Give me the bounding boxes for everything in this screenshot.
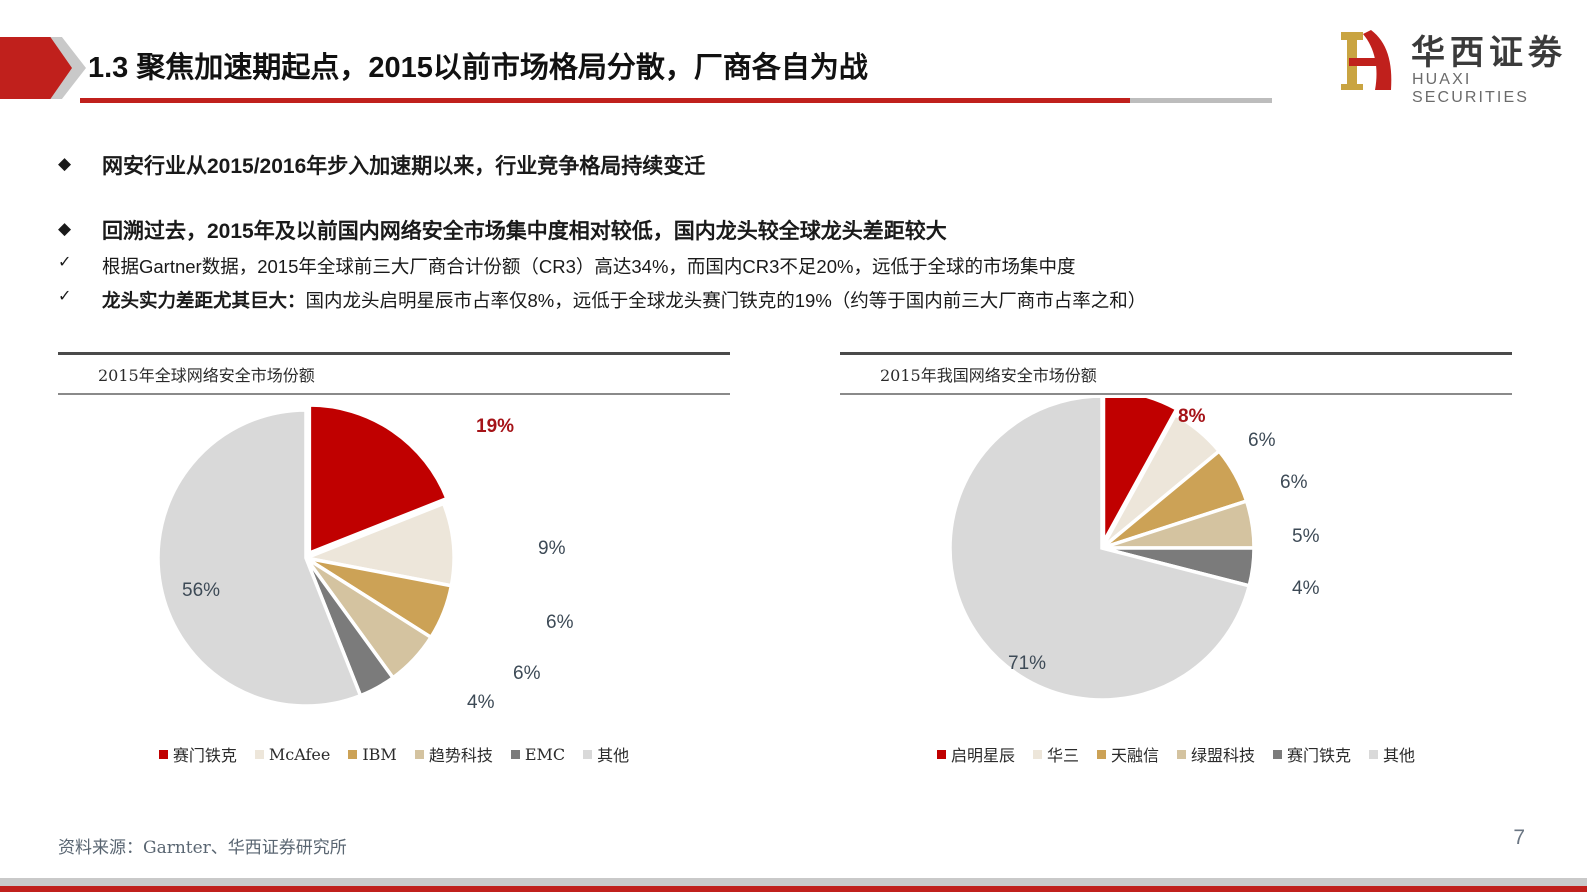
source-note: 资料来源：Garnter、华西证券研究所 bbox=[58, 833, 347, 858]
pie-label-china-4: 4% bbox=[1292, 578, 1319, 600]
header-rule-red bbox=[80, 98, 1130, 103]
diamond-bullet-icon: ◆ bbox=[58, 220, 71, 237]
huaxi-logo-mark-icon bbox=[1335, 28, 1401, 92]
legend-label: 其他 bbox=[597, 742, 629, 766]
legend-swatch-icon bbox=[1097, 750, 1106, 759]
legend-global: 赛门铁克McAfeeIBM趋势科技EMC其他 bbox=[58, 740, 730, 768]
bullet-item-1: ◆ 网安行业从2015/2016年步入加速期以来，行业竞争格局持续变迁 bbox=[58, 150, 705, 180]
legend-swatch-icon bbox=[511, 750, 520, 759]
pie-label-global-1: 9% bbox=[538, 538, 565, 560]
pie-label-china-2: 6% bbox=[1280, 472, 1307, 494]
pie-label-global-2: 6% bbox=[546, 612, 573, 634]
pie-chart-china-svg bbox=[840, 398, 1512, 728]
page-number: 7 bbox=[1513, 826, 1525, 850]
bullet-item-2: ◆ 回溯过去，2015年及以前国内网络安全市场集中度相对较低，国内龙头较全球龙头… bbox=[58, 215, 947, 245]
legend-swatch-icon bbox=[937, 750, 946, 759]
chart-panel-china-header: 2015年我国网络安全市场份额 bbox=[840, 352, 1512, 395]
legend-swatch-icon bbox=[1033, 750, 1042, 759]
legend-china: 启明星辰华三天融信绿盟科技赛门铁克其他 bbox=[840, 740, 1512, 768]
bullet-item-4-text: 国内龙头启明星辰市占率仅8%，远低于全球龙头赛门铁克的19%（约等于国内前三大厂… bbox=[306, 290, 1147, 311]
legend-item[interactable]: 天融信 bbox=[1097, 742, 1159, 766]
pie-chart-global: 19% 9% 6% 6% 4% 56% bbox=[58, 398, 730, 728]
pie-label-china-5: 71% bbox=[1008, 653, 1046, 675]
legend-item[interactable]: McAfee bbox=[255, 745, 330, 764]
chart-panel-global-header: 2015年全球网络安全市场份额 bbox=[58, 352, 730, 395]
legend-swatch-icon bbox=[583, 750, 592, 759]
legend-label: 华三 bbox=[1047, 742, 1079, 766]
bullet-item-2-text: 回溯过去，2015年及以前国内网络安全市场集中度相对较低，国内龙头较全球龙头差距… bbox=[102, 215, 947, 245]
legend-swatch-icon bbox=[1273, 750, 1282, 759]
legend-label: 赛门铁克 bbox=[173, 742, 237, 766]
pie-label-china-0: 8% bbox=[1178, 406, 1205, 428]
legend-label: 赛门铁克 bbox=[1287, 742, 1351, 766]
bullet-item-4-strong: 龙头实力差距尤其巨大： bbox=[102, 290, 306, 311]
legend-swatch-icon bbox=[255, 750, 264, 759]
legend-item[interactable]: EMC bbox=[511, 745, 565, 764]
slide: 1.3 聚焦加速期起点，2015以前市场格局分散，厂商各自为战 华西证劵 HUA… bbox=[0, 0, 1587, 892]
pie-label-global-3: 6% bbox=[513, 663, 540, 685]
legend-item[interactable]: 赛门铁克 bbox=[1273, 742, 1351, 766]
legend-swatch-icon bbox=[1177, 750, 1186, 759]
check-bullet-icon: ✓ bbox=[58, 289, 71, 305]
legend-swatch-icon bbox=[1369, 750, 1378, 759]
bullet-item-3: ✓ 根据Gartner数据，2015年全球前三大厂商合计份额（CR3）高达34%… bbox=[58, 253, 1075, 279]
bullet-item-4: ✓ 龙头实力差距尤其巨大：国内龙头启明星辰市占率仅8%，远低于全球龙头赛门铁克的… bbox=[58, 287, 1146, 313]
footer-bar-red bbox=[0, 886, 1587, 892]
pie-chart-global-svg bbox=[58, 398, 730, 728]
pie-label-global-5: 56% bbox=[182, 580, 220, 602]
pie-label-global-4: 4% bbox=[467, 692, 494, 714]
legend-label: 其他 bbox=[1383, 742, 1415, 766]
chart-title-global: 2015年全球网络安全市场份额 bbox=[58, 355, 730, 393]
chart-title-china: 2015年我国网络安全市场份额 bbox=[840, 355, 1512, 393]
panel-rule-bottom bbox=[58, 393, 730, 395]
legend-swatch-icon bbox=[348, 750, 357, 759]
logo-english-name: HUAXI SECURITIES bbox=[1412, 71, 1573, 107]
legend-item[interactable]: 启明星辰 bbox=[937, 742, 1015, 766]
legend-label: 趋势科技 bbox=[429, 742, 493, 766]
legend-label: 绿盟科技 bbox=[1191, 742, 1255, 766]
legend-item[interactable]: IBM bbox=[348, 745, 396, 764]
legend-item[interactable]: 华三 bbox=[1033, 742, 1079, 766]
header-rule-gray bbox=[1130, 98, 1272, 103]
legend-label: 启明星辰 bbox=[951, 742, 1015, 766]
legend-swatch-icon bbox=[159, 750, 168, 759]
legend-item[interactable]: 趋势科技 bbox=[415, 742, 493, 766]
legend-label: IBM bbox=[362, 745, 396, 764]
legend-swatch-icon bbox=[415, 750, 424, 759]
legend-label: EMC bbox=[525, 745, 565, 764]
diamond-bullet-icon: ◆ bbox=[58, 155, 71, 172]
brand-logo: 华西证劵 HUAXI SECURITIES bbox=[1327, 25, 1573, 97]
check-bullet-icon: ✓ bbox=[58, 255, 71, 271]
legend-item[interactable]: 其他 bbox=[1369, 742, 1415, 766]
pie-label-global-0: 19% bbox=[476, 416, 514, 438]
legend-label: McAfee bbox=[269, 745, 330, 764]
legend-item[interactable]: 绿盟科技 bbox=[1177, 742, 1255, 766]
pie-label-china-3: 5% bbox=[1292, 526, 1319, 548]
bullet-item-1-text: 网安行业从2015/2016年步入加速期以来，行业竞争格局持续变迁 bbox=[102, 150, 705, 180]
legend-item[interactable]: 其他 bbox=[583, 742, 629, 766]
pie-label-china-1: 6% bbox=[1248, 430, 1275, 452]
pie-chart-china: 8% 6% 6% 5% 4% 71% bbox=[840, 398, 1512, 728]
page-title: 1.3 聚焦加速期起点，2015以前市场格局分散，厂商各自为战 bbox=[88, 44, 868, 86]
logo-chinese-name: 华西证劵 bbox=[1411, 25, 1567, 74]
legend-item[interactable]: 赛门铁克 bbox=[159, 742, 237, 766]
slide-header: 1.3 聚焦加速期起点，2015以前市场格局分散，厂商各自为战 华西证劵 HUA… bbox=[0, 0, 1587, 120]
legend-label: 天融信 bbox=[1111, 742, 1159, 766]
panel-rule-bottom bbox=[840, 393, 1512, 395]
bullet-item-3-text: 根据Gartner数据，2015年全球前三大厂商合计份额（CR3）高达34%，而… bbox=[102, 253, 1075, 279]
